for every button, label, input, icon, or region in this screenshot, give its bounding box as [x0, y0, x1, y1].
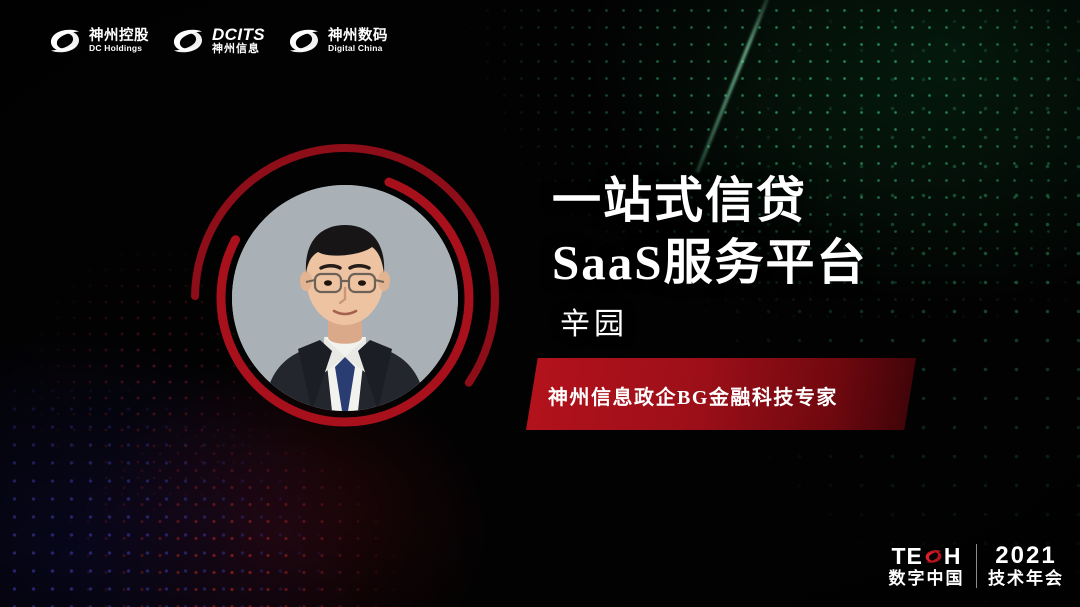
logo-dcits-text: DCITS 神州信息: [212, 26, 265, 55]
page-title: 一站式信贷 SaaS服务平台: [552, 170, 868, 293]
speaker-title-text: 神州信息政企BG金融科技专家: [548, 381, 838, 410]
swirl-logo-icon: [48, 28, 82, 54]
logo-dc-holdings: 神州控股 DC Holdings: [48, 28, 149, 54]
logo-dcits-en: DCITS: [212, 26, 265, 44]
logo-digital-china-en: Digital China: [328, 44, 388, 53]
event-name: 技术年会: [988, 570, 1064, 589]
logo-digital-china-cn: 神州数码: [328, 29, 388, 44]
logo-dcits-cn: 神州信息: [212, 44, 265, 55]
logo-dc-holdings-cn: 神州控股: [89, 29, 149, 44]
event-logo-right: 2021 技术年会: [988, 543, 1064, 589]
logo-dc-holdings-text: 神州控股 DC Holdings: [89, 29, 149, 53]
portrait-ring-group: [186, 139, 504, 457]
vignette-overlay: [0, 0, 1080, 607]
swirl-logo-icon: [287, 28, 321, 54]
tech-wordmark: TE H: [891, 544, 961, 568]
tech-wordmark-post: H: [944, 544, 962, 568]
title-line-2: SaaS服务平台: [552, 232, 868, 294]
presentation-slide: 神州控股 DC Holdings DCITS 神州信息 神州数码 Digital…: [0, 0, 1080, 607]
logo-digital-china: 神州数码 Digital China: [287, 28, 388, 54]
logo-dcits: DCITS 神州信息: [171, 26, 265, 55]
event-logo-cn: 数字中国: [889, 570, 965, 588]
logo-dc-holdings-en: DC Holdings: [89, 44, 149, 53]
red-swirl-icon: [924, 548, 943, 565]
tech-wordmark-pre: TE: [891, 544, 922, 568]
portrait-illustration: [232, 185, 458, 411]
event-logo: TE H 数字中国 2021 技术年会: [889, 543, 1065, 589]
event-year: 2021: [995, 543, 1056, 569]
swirl-logo-icon: [171, 28, 205, 54]
logo-digital-china-text: 神州数码 Digital China: [328, 29, 388, 53]
speaker-name: 辛园: [560, 299, 628, 343]
event-logo-divider: [976, 544, 978, 588]
speaker-portrait-photo: [232, 185, 458, 411]
title-line-1: 一站式信贷: [552, 170, 868, 232]
event-logo-left: TE H 数字中国: [889, 544, 965, 587]
logo-bar: 神州控股 DC Holdings DCITS 神州信息 神州数码 Digital…: [48, 26, 388, 55]
